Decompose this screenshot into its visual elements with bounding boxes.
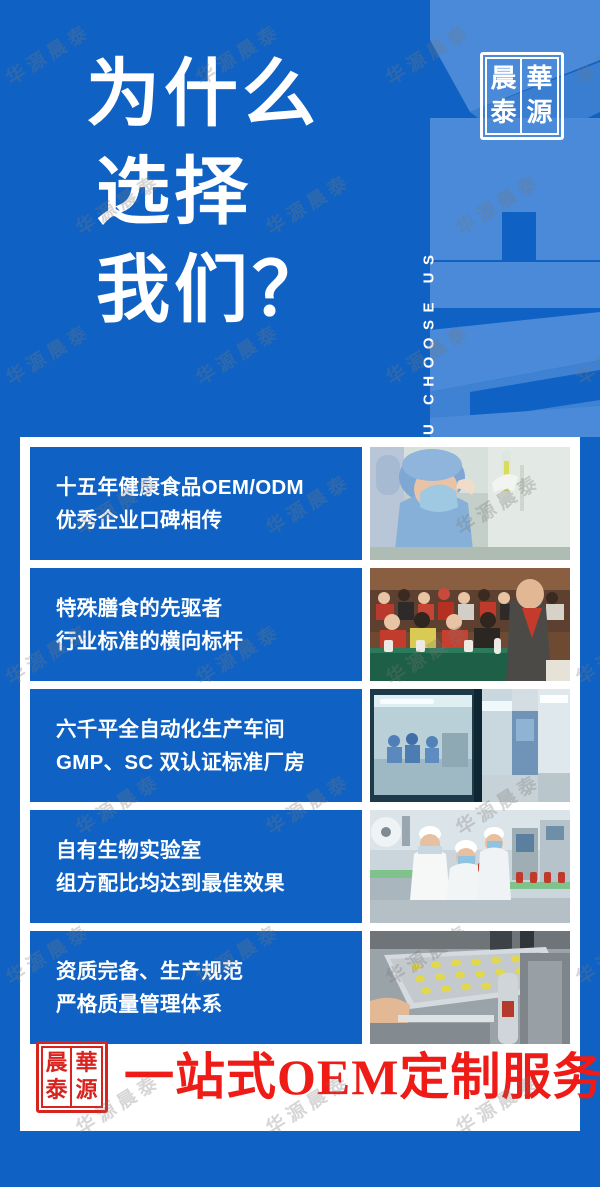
workers-at-packaging-line-photo xyxy=(370,810,570,923)
footer-seal-char-chen: 晨 xyxy=(45,1052,67,1074)
page-title: 为什么 选择 我们？ xyxy=(86,46,386,340)
seal-column-right: 華 源 xyxy=(522,59,557,133)
vertical-tagline: DID YOU CHOOSE US xyxy=(413,18,445,398)
seal-char-chen: 晨 xyxy=(490,66,516,92)
footer-seal-inner-border: 晨 泰 華 源 xyxy=(41,1046,103,1108)
seal-char-yuan: 源 xyxy=(526,100,552,126)
feature-card-2: 特殊膳食的先驱者 行业标准的横向标杆 xyxy=(30,568,362,681)
feature-row: 自有生物实验室 组方配比均达到最佳效果 xyxy=(30,810,570,923)
title-line-3: 我们？ xyxy=(86,242,386,340)
footer-seal-char-hua: 華 xyxy=(75,1052,97,1074)
feature-card-5: 资质完备、生产规范 严格质量管理体系 xyxy=(30,931,362,1044)
content-panel: 十五年健康食品OEM/ODM 优秀企业口碑相传 xyxy=(20,437,580,1131)
footer-bar: 晨 泰 華 源 一站式OEM定制服务 xyxy=(30,1032,570,1121)
conference-audience-red-scarves-photo xyxy=(370,568,570,681)
feature-4-line-2: 组方配比均达到最佳效果 xyxy=(56,867,362,900)
feature-4-line-1: 自有生物实验室 xyxy=(56,834,362,867)
feature-3-line-2: GMP、SC 双认证标准厂房 xyxy=(56,746,362,779)
lab-technician-inspecting-vial-photo xyxy=(370,447,570,560)
footer-seal-char-tai: 泰 xyxy=(45,1079,67,1101)
tablet-blister-packing-machine-photo xyxy=(370,931,570,1044)
feature-3-line-1: 六千平全自动化生产车间 xyxy=(56,713,362,746)
feature-photo-1 xyxy=(370,447,570,560)
feature-row: 特殊膳食的先驱者 行业标准的横向标杆 xyxy=(30,568,570,681)
feature-1-line-2: 优秀企业口碑相传 xyxy=(56,504,362,537)
poster-header: 为什么 选择 我们？ DID YOU CHOOSE US 晨 泰 華 源 xyxy=(0,0,600,437)
seal-inner-border: 晨 泰 華 源 xyxy=(485,57,559,135)
feature-row: 资质完备、生产规范 严格质量管理体系 xyxy=(30,931,570,1044)
feature-photo-2 xyxy=(370,568,570,681)
feature-card-1: 十五年健康食品OEM/ODM 优秀企业口碑相传 xyxy=(30,447,362,560)
footer-seal-column-right: 華 源 xyxy=(72,1048,101,1106)
feature-photo-3 xyxy=(370,689,570,802)
seal-column-left: 晨 泰 xyxy=(487,59,522,133)
feature-card-4: 自有生物实验室 组方配比均达到最佳效果 xyxy=(30,810,362,923)
seal-char-tai: 泰 xyxy=(490,100,516,126)
cleanroom-corridor-window-photo xyxy=(370,689,570,802)
seal-char-hua: 華 xyxy=(526,66,552,92)
title-line-1: 为什么 xyxy=(86,46,386,144)
feature-row: 十五年健康食品OEM/ODM 优秀企业口碑相传 xyxy=(30,447,570,560)
feature-card-3: 六千平全自动化生产车间 GMP、SC 双认证标准厂房 xyxy=(30,689,362,802)
feature-1-line-1: 十五年健康食品OEM/ODM xyxy=(56,471,362,504)
title-line-2: 选择 xyxy=(86,144,386,242)
feature-2-line-2: 行业标准的横向标杆 xyxy=(56,625,362,658)
footer-seal-char-yuan: 源 xyxy=(75,1079,97,1101)
feature-row: 六千平全自动化生产车间 GMP、SC 双认证标准厂房 xyxy=(30,689,570,802)
feature-5-line-2: 严格质量管理体系 xyxy=(56,988,362,1021)
footer-brand-seal-icon: 晨 泰 華 源 xyxy=(36,1041,108,1113)
feature-list: 十五年健康食品OEM/ODM 优秀企业口碑相传 xyxy=(30,447,570,1044)
feature-photo-4 xyxy=(370,810,570,923)
feature-2-line-1: 特殊膳食的先驱者 xyxy=(56,592,362,625)
footer-seal-column-left: 晨 泰 xyxy=(43,1048,72,1106)
footer-slogan: 一站式OEM定制服务 xyxy=(124,1052,600,1102)
feature-5-line-1: 资质完备、生产规范 xyxy=(56,955,362,988)
brand-seal-icon: 晨 泰 華 源 xyxy=(480,52,564,140)
feature-photo-5 xyxy=(370,931,570,1044)
